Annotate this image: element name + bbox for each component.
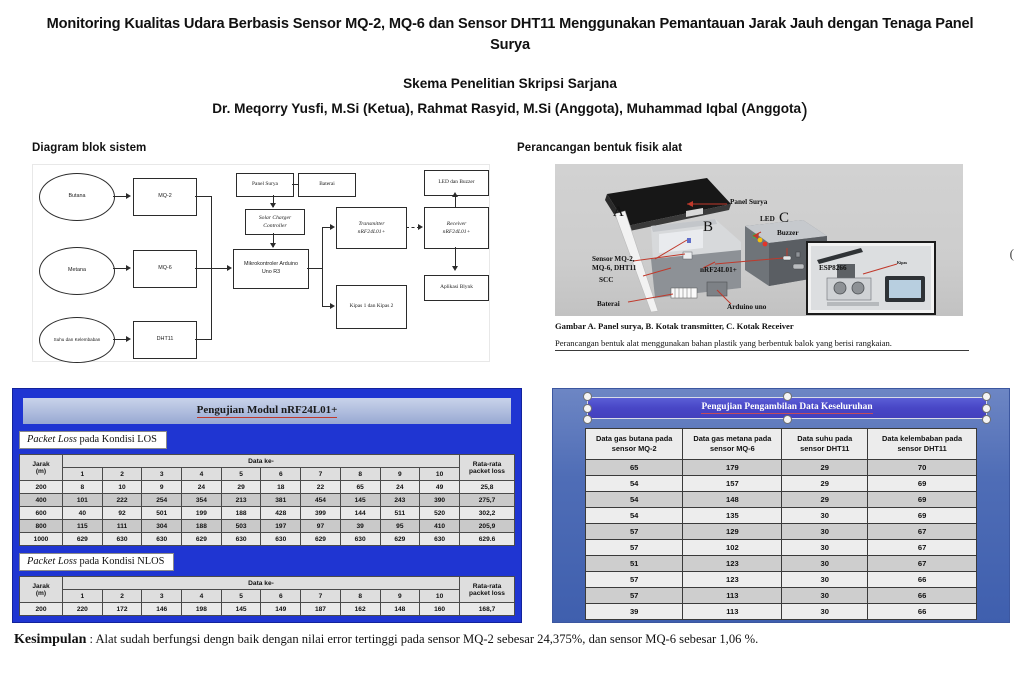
node-label: MQ-6 <box>158 265 171 273</box>
cell-rata-rata: 25,8 <box>460 481 515 494</box>
cell-value: 410 <box>420 520 460 533</box>
cell-value: 70 <box>868 459 977 475</box>
cell-value: 428 <box>261 507 301 520</box>
node-label: Transmitter <box>358 221 384 227</box>
cell-jarak: 600 <box>20 507 63 520</box>
physical-design-column: Perancangan bentuk fisik alat <box>517 142 1017 351</box>
col-header-data-2: 2 <box>102 590 142 603</box>
col-header-data-1: 1 <box>63 590 103 603</box>
cell-value: 69 <box>868 475 977 491</box>
cell-value: 381 <box>261 494 301 507</box>
diagram-node-dht11: DHT11 <box>133 321 197 359</box>
table-row: 571233066 <box>586 571 977 587</box>
cell-value: 65 <box>586 459 683 475</box>
col-header-jarak: Jarak(m) <box>20 577 63 603</box>
table-row: 6004092501199188428399144511520302,2 <box>20 507 515 520</box>
los-caption-italic: Packet Loss <box>27 434 77 445</box>
cell-rata-rata: 629.6 <box>460 533 515 546</box>
cell-value: 630 <box>102 533 142 546</box>
diagram-node-suhu-kelembaban: Suhu dan Kelembaban <box>39 317 115 363</box>
cell-value: 9 <box>142 481 182 494</box>
authors-line: Dr. Meqorry Yusfi, M.Si (Ketua), Rahmat … <box>36 100 984 118</box>
cell-value: 630 <box>261 533 301 546</box>
panel-pengujian-data: Pengujian Pengambilan Data Keseluruhan D… <box>552 388 1010 623</box>
cell-value: 40 <box>63 507 103 520</box>
resize-handle-bottom-center[interactable] <box>783 415 792 424</box>
cell-value: 18 <box>261 481 301 494</box>
table-packet-loss-los: Jarak(m)Data ke-Rata-ratapacket loss1234… <box>19 454 515 546</box>
node-label: Metana <box>68 267 86 275</box>
poster-header: Monitoring Kualitas Udara Berbasis Senso… <box>0 0 1020 118</box>
cell-value: 54 <box>586 475 683 491</box>
cell-value: 22 <box>301 481 341 494</box>
los-caption-rest: pada Kondisi LOS <box>77 434 157 445</box>
table-row: 651792970 <box>586 459 977 475</box>
resize-handle-bottom-right[interactable] <box>982 415 991 424</box>
cell-value: 30 <box>782 603 868 619</box>
col-header-1: Data gas metana pada sensor MQ-6 <box>683 429 782 460</box>
cell-value: 67 <box>868 555 977 571</box>
col-header-jarak: Jarak(m) <box>20 455 63 481</box>
col-header-data-5: 5 <box>221 590 261 603</box>
cell-value: 95 <box>380 520 420 533</box>
photo-note: Perancangan bentuk alat menggunakan baha… <box>555 338 969 351</box>
col-header-0: Data gas butana pada sensor MQ-2 <box>586 429 683 460</box>
cell-value: 69 <box>868 507 977 523</box>
cell-value: 57 <box>586 571 683 587</box>
diagram-node-mikrokontroler-arduino: Mikrokontroler ArduinoUno R3 <box>233 249 309 289</box>
subtitle-block: Skema Penelitian Skripsi Sarjana Dr. Meq… <box>36 75 984 118</box>
conclusion-body: : Alat sudah berfungsi dengn baik dengan… <box>86 632 758 646</box>
cell-value: 188 <box>221 507 261 520</box>
resize-handle-middle-left[interactable] <box>583 404 592 413</box>
photo-letter-b: B <box>703 219 713 236</box>
cell-value: 39 <box>586 603 683 619</box>
table-packet-loss-nlos: Jarak(m)Data ke-Rata-ratapacket loss1234… <box>19 576 515 616</box>
physical-design-photo: A B C Panel Surya LED Buzzer Sensor MQ-2… <box>555 164 963 316</box>
cell-value: 49 <box>420 481 460 494</box>
cell-value: 145 <box>340 494 380 507</box>
col-header-data-2: 2 <box>102 468 142 481</box>
table-row: 200220172146198145149187162148160168,7 <box>20 603 515 616</box>
table-row: 541482969 <box>586 491 977 507</box>
cell-value: 629 <box>182 533 222 546</box>
cell-value: 157 <box>683 475 782 491</box>
conclusion-text: Kesimpulan : Alat sudah berfungsi dengn … <box>14 630 990 650</box>
cell-value: 29 <box>782 475 868 491</box>
cell-value: 148 <box>380 603 420 616</box>
cell-value: 390 <box>420 494 460 507</box>
photo-label-panel-surya: Panel Surya <box>730 198 767 206</box>
diagram-node-butana: Butana <box>39 173 115 221</box>
photo-label-sensor-line1: Sensor MQ-2, <box>592 255 635 263</box>
cell-value: 144 <box>340 507 380 520</box>
cell-value: 629 <box>380 533 420 546</box>
cell-rata-rata: 205,9 <box>460 520 515 533</box>
cell-value: 97 <box>301 520 341 533</box>
node-label: Baterai <box>319 181 335 189</box>
table-row: 571133066 <box>586 587 977 603</box>
nlos-caption: Packet Loss pada Kondisi NLOS <box>19 553 174 571</box>
cell-value: 160 <box>420 603 460 616</box>
node-label: Aplikasi Blynk <box>440 284 473 292</box>
cell-value: 629 <box>301 533 341 546</box>
col-header-rata-rata: Rata-ratapacket loss <box>460 455 515 481</box>
block-diagram-canvas: Butana Metana Suhu dan Kelembaban MQ-2 M… <box>32 164 490 362</box>
cell-value: 399 <box>301 507 341 520</box>
cell-rata-rata: 275,7 <box>460 494 515 507</box>
diagram-node-panel-surya: Panel Surya <box>236 173 294 197</box>
cell-value: 29 <box>782 491 868 507</box>
cell-value: 129 <box>683 523 782 539</box>
block-diagram-column: Diagram blok sistem Butana Metana Suhu d… <box>32 142 502 362</box>
col-header-2: Data suhu pada sensor DHT11 <box>782 429 868 460</box>
col-header-data-1: 1 <box>63 468 103 481</box>
research-scheme-subtitle: Skema Penelitian Skripsi Sarjana <box>36 75 984 93</box>
cell-value: 630 <box>340 533 380 546</box>
resize-handle-middle-right[interactable] <box>982 404 991 413</box>
node-label: MQ-2 <box>158 193 171 201</box>
panel-right-title-wrapper[interactable]: Pengujian Pengambilan Data Keseluruhan <box>587 397 987 419</box>
cell-value: 65 <box>340 481 380 494</box>
resize-handle-top-center[interactable] <box>783 392 792 401</box>
diagram-node-aplikasi-blynk: Aplikasi Blynk <box>424 275 489 301</box>
cell-value: 54 <box>586 491 683 507</box>
node-label: Kipas 1 dan Kipas 2 <box>350 303 394 311</box>
cell-value: 503 <box>221 520 261 533</box>
authors-closing-paren: ) <box>801 100 808 122</box>
node-label-2: Controller <box>263 223 286 229</box>
node-label: Panel Surya <box>252 181 278 189</box>
cell-value: 220 <box>63 603 103 616</box>
cell-value: 123 <box>683 555 782 571</box>
photo-letter-c: C <box>779 210 789 227</box>
col-header-datake: Data ke- <box>63 455 460 468</box>
node-label: Butana <box>68 193 85 201</box>
photo-label-esp8266: ESP8266 <box>819 264 847 272</box>
col-header-datake: Data ke- <box>63 577 460 590</box>
mid-section: Diagram blok sistem Butana Metana Suhu d… <box>0 140 1020 378</box>
cell-value: 29 <box>782 459 868 475</box>
table-row: 20081092429182265244925,8 <box>20 481 515 494</box>
nlos-caption-rest: pada Kondisi NLOS <box>77 556 164 567</box>
cell-value: 30 <box>782 555 868 571</box>
resize-handle-top-right[interactable] <box>982 392 991 401</box>
diagram-node-mq6: MQ-6 <box>133 250 197 288</box>
cell-value: 199 <box>182 507 222 520</box>
table-row: 800115111304188503197973995410205,9 <box>20 520 515 533</box>
cell-value: 24 <box>182 481 222 494</box>
photo-label-buzzer: Buzzer <box>777 229 799 237</box>
cell-value: 57 <box>586 587 683 603</box>
cell-value: 24 <box>380 481 420 494</box>
photo-letter-a: A <box>613 204 624 221</box>
cell-value: 243 <box>380 494 420 507</box>
col-header-data-9: 9 <box>380 468 420 481</box>
cell-value: 197 <box>261 520 301 533</box>
table-row: 571023067 <box>586 539 977 555</box>
node-label: DHT11 <box>157 336 174 344</box>
authors-text: Dr. Meqorry Yusfi, M.Si (Ketua), Rahmat … <box>212 101 801 116</box>
cell-value: 188 <box>182 520 222 533</box>
cell-value: 222 <box>102 494 142 507</box>
diagram-node-receiver: ReceivernRF24L01+ <box>424 207 489 249</box>
diagram-node-solar-charger-controller: Solar ChargerController <box>245 209 305 235</box>
cell-value: 115 <box>63 520 103 533</box>
photo-label-led: LED <box>760 215 775 223</box>
cell-value: 113 <box>683 587 782 603</box>
cell-jarak: 200 <box>20 481 63 494</box>
block-diagram-heading: Diagram blok sistem <box>32 142 502 154</box>
cell-value: 135 <box>683 507 782 523</box>
table-data-keseluruhan: Data gas butana pada sensor MQ-2Data gas… <box>585 428 977 620</box>
node-label: Mikrokontroler Arduino <box>244 261 298 267</box>
cell-value: 354 <box>182 494 222 507</box>
cell-value: 66 <box>868 571 977 587</box>
node-label: Receiver <box>447 221 467 227</box>
cell-value: 51 <box>586 555 683 571</box>
cell-value: 67 <box>868 539 977 555</box>
cell-value: 179 <box>683 459 782 475</box>
col-header-data-7: 7 <box>301 590 341 603</box>
cell-value: 29 <box>221 481 261 494</box>
cell-value: 123 <box>683 571 782 587</box>
table-row: 391133066 <box>586 603 977 619</box>
node-label: Suhu dan Kelembaban <box>54 337 101 344</box>
table-row: 1000629630630629630630629630629630629.6 <box>20 533 515 546</box>
physical-design-heading: Perancangan bentuk fisik alat <box>517 142 1017 154</box>
diagram-node-transmitter: TransmitternRF24L01+ <box>336 207 407 249</box>
cell-value: 10 <box>102 481 142 494</box>
cell-value: 57 <box>586 539 683 555</box>
table-row: 511233067 <box>586 555 977 571</box>
cell-value: 92 <box>102 507 142 520</box>
cell-value: 162 <box>340 603 380 616</box>
col-header-data-4: 4 <box>182 468 222 481</box>
cell-value: 145 <box>221 603 261 616</box>
cell-value: 630 <box>221 533 261 546</box>
cell-value: 148 <box>683 491 782 507</box>
cell-value: 101 <box>63 494 103 507</box>
diagram-node-metana: Metana <box>39 247 115 295</box>
table-row: 541353069 <box>586 507 977 523</box>
cell-value: 66 <box>868 603 977 619</box>
cell-value: 146 <box>142 603 182 616</box>
col-header-data-4: 4 <box>182 590 222 603</box>
cell-value: 629 <box>63 533 103 546</box>
cell-value: 30 <box>782 587 868 603</box>
cell-value: 30 <box>782 571 868 587</box>
col-header-3: Data kelembaban pada sensor DHT11 <box>868 429 977 460</box>
photo-caption: Gambar A. Panel surya, B. Kotak transmit… <box>555 321 1017 331</box>
col-header-data-6: 6 <box>261 590 301 603</box>
cell-value: 501 <box>142 507 182 520</box>
device-illustration <box>555 164 963 316</box>
cell-jarak: 1000 <box>20 533 63 546</box>
cell-jarak: 400 <box>20 494 63 507</box>
cell-value: 213 <box>221 494 261 507</box>
cell-jarak: 200 <box>20 603 63 616</box>
col-header-data-5: 5 <box>221 468 261 481</box>
diagram-node-mq2: MQ-2 <box>133 178 197 216</box>
diagram-node-kipas: Kipas 1 dan Kipas 2 <box>336 285 407 329</box>
col-header-rata-rata: Rata-ratapacket loss <box>460 577 515 603</box>
cell-value: 454 <box>301 494 341 507</box>
stray-paren-glyph: ( <box>1010 246 1014 262</box>
conclusion-label: Kesimpulan <box>14 632 86 647</box>
cell-value: 67 <box>868 523 977 539</box>
col-header-data-7: 7 <box>301 468 341 481</box>
node-label: Solar Charger <box>259 215 291 221</box>
panel-pengujian-modul: Pengujian Modul nRF24L01+ Packet Loss pa… <box>12 388 522 623</box>
cell-rata-rata: 168,7 <box>460 603 515 616</box>
photo-label-baterai: Baterai <box>597 300 620 308</box>
nlos-caption-italic: Packet Loss <box>27 556 77 567</box>
cell-value: 57 <box>586 523 683 539</box>
los-caption: Packet Loss pada Kondisi LOS <box>19 431 167 449</box>
node-label: LED dan Buzzer <box>438 179 474 187</box>
cell-value: 520 <box>420 507 460 520</box>
col-header-data-3: 3 <box>142 468 182 481</box>
resize-handle-bottom-left[interactable] <box>583 415 592 424</box>
cell-value: 304 <box>142 520 182 533</box>
cell-value: 254 <box>142 494 182 507</box>
cell-value: 102 <box>683 539 782 555</box>
panel-left-title: Pengujian Modul nRF24L01+ <box>23 398 511 424</box>
node-label-2: nRF24L01+ <box>443 229 471 235</box>
cell-value: 198 <box>182 603 222 616</box>
cell-rata-rata: 302,2 <box>460 507 515 520</box>
photo-label-sensor-line2: MQ-6, DHT11 <box>592 264 636 272</box>
cell-value: 66 <box>868 587 977 603</box>
cell-value: 113 <box>683 603 782 619</box>
cell-value: 69 <box>868 491 977 507</box>
col-header-data-6: 6 <box>261 468 301 481</box>
diagram-node-baterai: Baterai <box>298 173 356 197</box>
col-header-data-10: 10 <box>420 468 460 481</box>
table-row: 400101222254354213381454145243390275,7 <box>20 494 515 507</box>
photo-label-inset-kipas: Kipas <box>897 260 907 265</box>
col-header-data-10: 10 <box>420 590 460 603</box>
photo-label-arduino-uno: Arduino uno <box>727 303 766 311</box>
cell-value: 511 <box>380 507 420 520</box>
cell-value: 30 <box>782 507 868 523</box>
cell-value: 630 <box>420 533 460 546</box>
cell-value: 54 <box>586 507 683 523</box>
resize-handle-top-left[interactable] <box>583 392 592 401</box>
cell-value: 8 <box>63 481 103 494</box>
cell-value: 39 <box>340 520 380 533</box>
photo-label-scc: SCC <box>599 276 613 284</box>
col-header-data-8: 8 <box>340 590 380 603</box>
page-title: Monitoring Kualitas Udara Berbasis Senso… <box>42 14 978 55</box>
cell-jarak: 800 <box>20 520 63 533</box>
col-header-data-8: 8 <box>340 468 380 481</box>
photo-label-nrf24l01: nRF24L01+ <box>700 266 737 274</box>
cell-value: 149 <box>261 603 301 616</box>
cell-value: 172 <box>102 603 142 616</box>
node-label-2: nRF24L01+ <box>358 229 386 235</box>
cell-value: 630 <box>142 533 182 546</box>
col-header-data-3: 3 <box>142 590 182 603</box>
cell-value: 30 <box>782 539 868 555</box>
col-header-data-9: 9 <box>380 590 420 603</box>
cell-value: 30 <box>782 523 868 539</box>
table-row: 571293067 <box>586 523 977 539</box>
cell-value: 111 <box>102 520 142 533</box>
table-row: 541572969 <box>586 475 977 491</box>
cell-value: 187 <box>301 603 341 616</box>
node-label-2: Uno R3 <box>262 269 280 275</box>
